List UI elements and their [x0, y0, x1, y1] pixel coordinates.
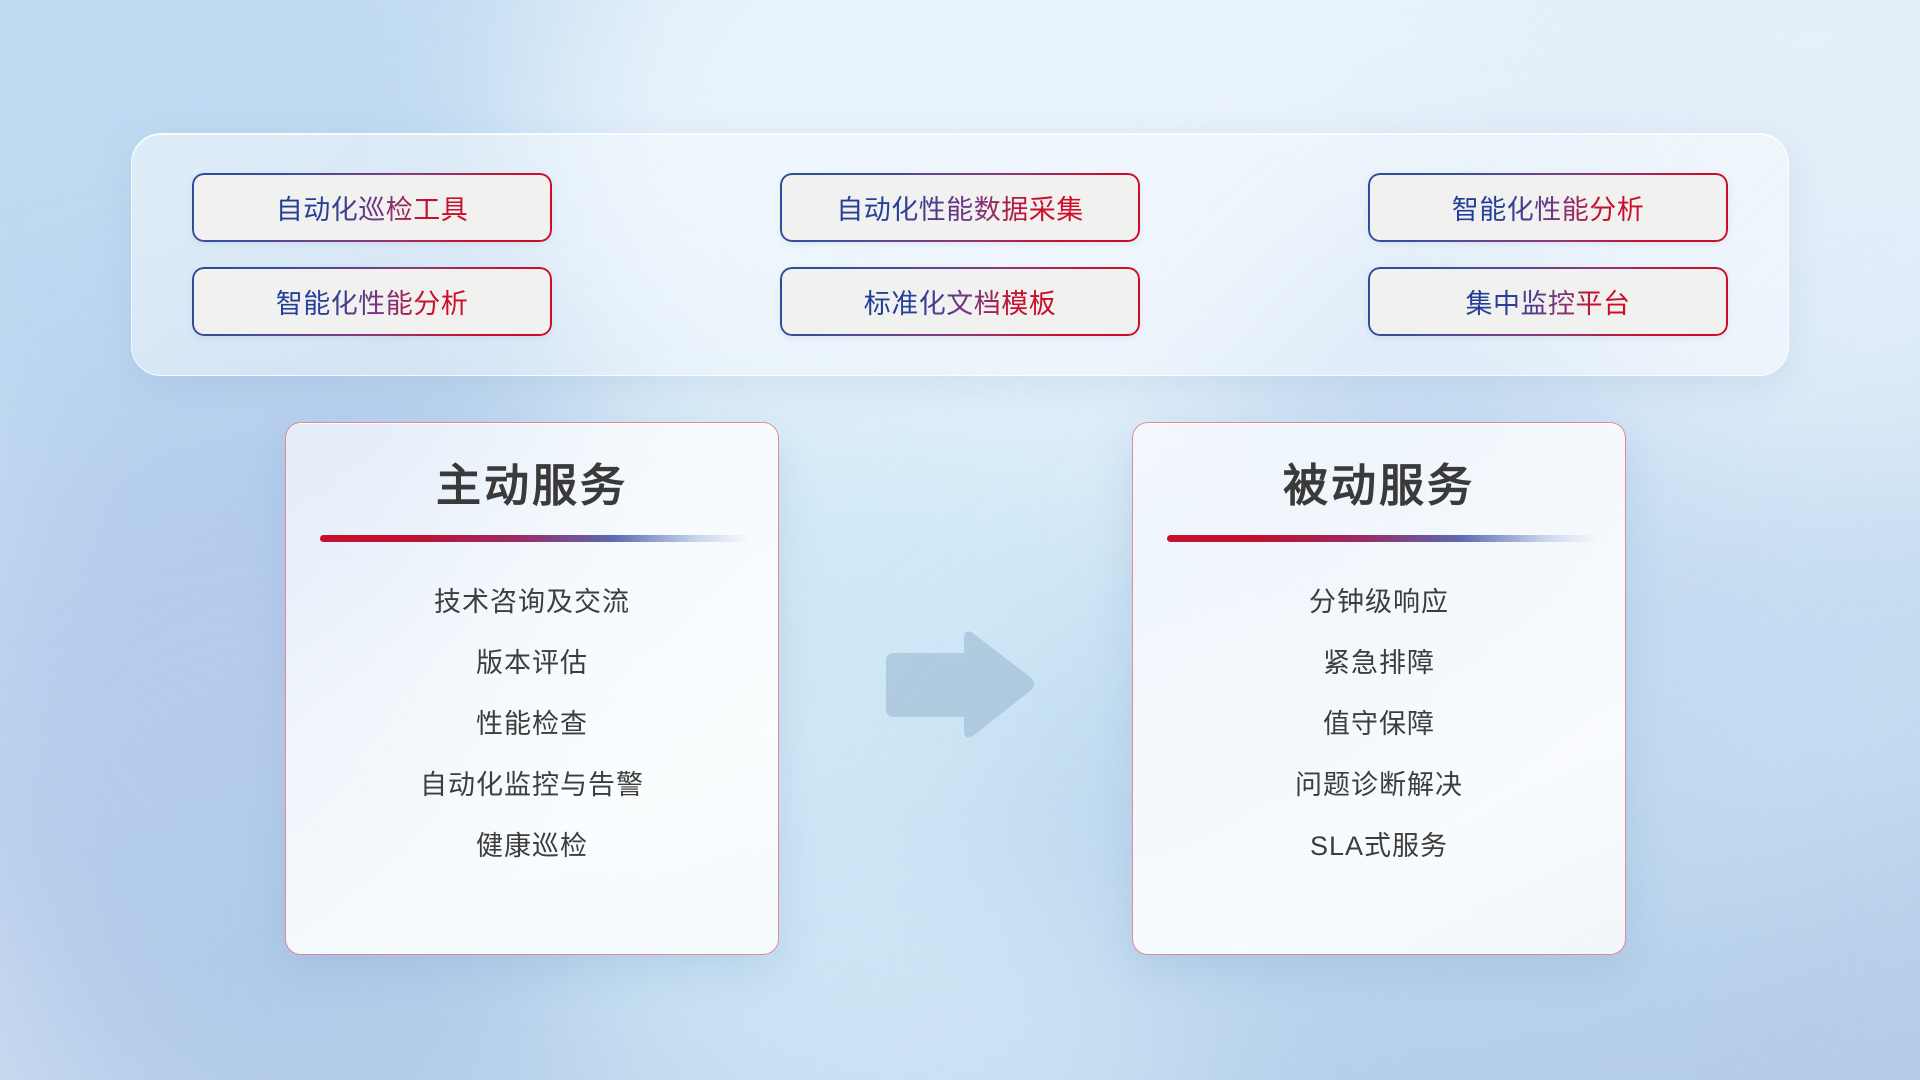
- capability-pill-centralized-monitoring-platform[interactable]: 集中监控平台: [1368, 267, 1728, 336]
- list-item: 版本评估: [320, 641, 744, 680]
- list-item: 分钟级响应: [1167, 580, 1591, 619]
- capability-row-2: 智能化性能分析 标准化文档模板 集中监控平台: [192, 267, 1728, 336]
- capability-pill-automation-performance-data-collection[interactable]: 自动化性能数据采集: [780, 173, 1140, 242]
- card-service-list: 分钟级响应 紧急排障 值守保障 问题诊断解决 SLA式服务: [1167, 580, 1591, 863]
- right-arrow-icon: [880, 625, 1040, 745]
- card-title: 被动服务: [1167, 461, 1591, 511]
- card-proactive-service[interactable]: 主动服务 技术咨询及交流 版本评估 性能检查 自动化监控与告警 健康巡检: [285, 422, 779, 955]
- capability-panel: 自动化巡检工具 自动化性能数据采集 智能化性能分析 智能化性能分析 标准化文档模…: [131, 133, 1789, 376]
- capability-pill-automation-inspection-tool[interactable]: 自动化巡检工具: [192, 173, 552, 242]
- slide-stage: 自动化巡检工具 自动化性能数据采集 智能化性能分析 智能化性能分析 标准化文档模…: [0, 0, 1920, 1080]
- capability-pill-label: 自动化性能数据采集: [836, 188, 1084, 227]
- capability-pill-standardized-document-template[interactable]: 标准化文档模板: [780, 267, 1140, 336]
- card-reactive-service[interactable]: 被动服务 分钟级响应 紧急排障 值守保障 问题诊断解决 SLA式服务: [1132, 422, 1626, 955]
- capability-pill-label: 标准化文档模板: [864, 282, 1057, 321]
- list-item: 自动化监控与告警: [320, 763, 744, 802]
- list-item: 性能检查: [320, 702, 744, 741]
- card-title: 主动服务: [320, 461, 744, 511]
- capability-row-1: 自动化巡检工具 自动化性能数据采集 智能化性能分析: [192, 173, 1728, 242]
- list-item: 值守保障: [1167, 702, 1591, 741]
- capability-pill-label: 智能化性能分析: [276, 282, 469, 321]
- list-item: SLA式服务: [1167, 824, 1591, 863]
- capability-pill-label: 智能化性能分析: [1452, 188, 1645, 227]
- list-item: 紧急排障: [1167, 641, 1591, 680]
- card-divider: [1167, 535, 1597, 542]
- capability-pill-label: 自动化巡检工具: [276, 188, 469, 227]
- capability-pill-intelligent-performance-analysis-2[interactable]: 智能化性能分析: [192, 267, 552, 336]
- list-item: 问题诊断解决: [1167, 763, 1591, 802]
- list-item: 技术咨询及交流: [320, 580, 744, 619]
- capability-pill-intelligent-performance-analysis-1[interactable]: 智能化性能分析: [1368, 173, 1728, 242]
- list-item: 健康巡检: [320, 824, 744, 863]
- card-service-list: 技术咨询及交流 版本评估 性能检查 自动化监控与告警 健康巡检: [320, 580, 744, 863]
- capability-pill-label: 集中监控平台: [1466, 282, 1631, 321]
- card-divider: [320, 535, 750, 542]
